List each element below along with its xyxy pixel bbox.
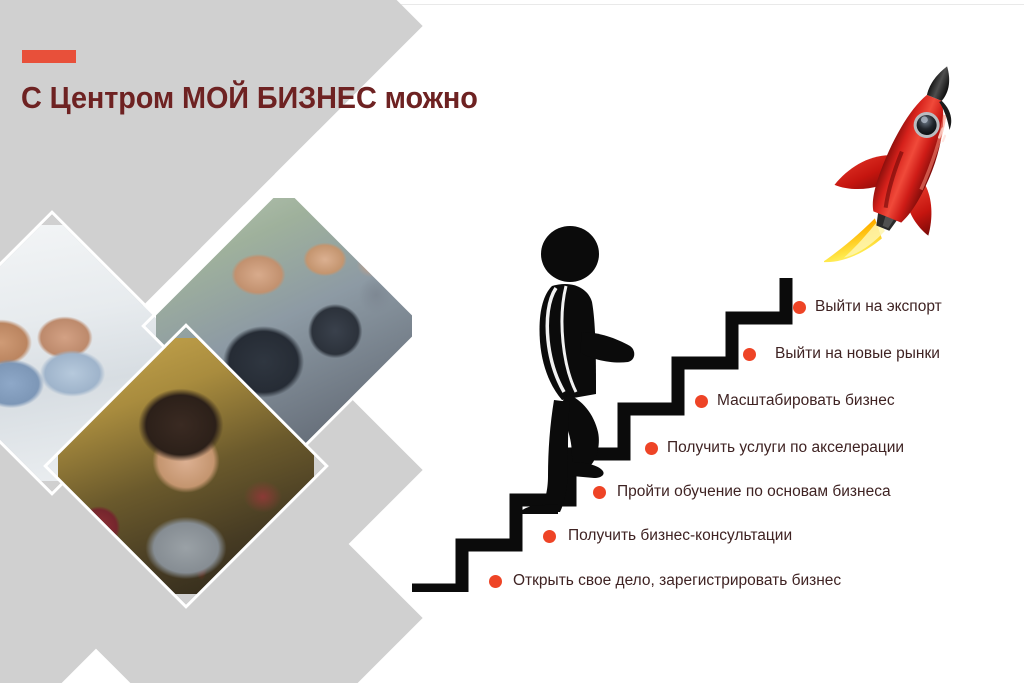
bullet-icon xyxy=(743,348,756,361)
step-label-text: Масштабировать бизнес xyxy=(717,392,895,410)
step-label-text: Выйти на экспорт xyxy=(815,298,942,316)
rocket-illustration xyxy=(824,58,984,288)
step-label-text: Получить бизнес-консультации xyxy=(568,527,792,545)
step-label-export[interactable]: Выйти на экспорт xyxy=(793,298,942,316)
step-label-text: Получить услуги по акселерации xyxy=(667,439,904,457)
climbing-person-silhouette xyxy=(512,224,652,514)
step-label-register-business[interactable]: Открыть свое дело, зарегистрировать бизн… xyxy=(489,572,841,590)
page-title: С Центром МОЙ БИЗНЕС можно xyxy=(21,80,478,116)
bullet-icon xyxy=(695,395,708,408)
bullet-icon xyxy=(543,530,556,543)
step-label-new-markets[interactable]: Выйти на новые рынки xyxy=(743,345,940,363)
slide-canvas: С Центром МОЙ БИЗНЕС можно xyxy=(0,0,1024,683)
title-accent-bar xyxy=(22,50,76,63)
step-label-business-consultations[interactable]: Получить бизнес-консультации xyxy=(543,527,792,545)
step-label-text: Выйти на новые рынки xyxy=(775,345,940,363)
step-label-text: Открыть свое дело, зарегистрировать бизн… xyxy=(513,572,841,590)
bullet-icon xyxy=(593,486,606,499)
top-divider xyxy=(0,4,1024,5)
photo-collage xyxy=(0,250,420,650)
step-label-business-basics-training[interactable]: Пройти обучение по основам бизнеса xyxy=(593,483,891,501)
bullet-icon xyxy=(489,575,502,588)
step-label-text: Пройти обучение по основам бизнеса xyxy=(617,483,891,501)
step-label-acceleration-services[interactable]: Получить услуги по акселерации xyxy=(645,439,904,457)
bullet-icon xyxy=(645,442,658,455)
step-label-scale-business[interactable]: Масштабировать бизнес xyxy=(695,392,895,410)
bullet-icon xyxy=(793,301,806,314)
